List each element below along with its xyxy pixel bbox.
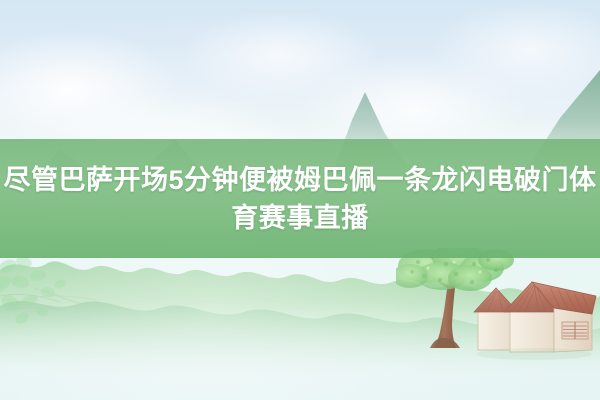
headline-line-2: 育赛事直播 bbox=[231, 199, 369, 237]
illustration-banner: 尽管巴萨开场5分钟便被姆巴佩一条龙闪电破门体 育赛事直播 bbox=[0, 0, 600, 400]
house-illustration bbox=[470, 268, 600, 368]
headline-line-1: 尽管巴萨开场5分钟便被姆巴佩一条龙闪电破门体 bbox=[4, 161, 597, 199]
headline-banner: 尽管巴萨开场5分钟便被姆巴佩一条龙闪电破门体 育赛事直播 bbox=[0, 139, 600, 258]
foliage-wisp-left bbox=[0, 252, 114, 347]
